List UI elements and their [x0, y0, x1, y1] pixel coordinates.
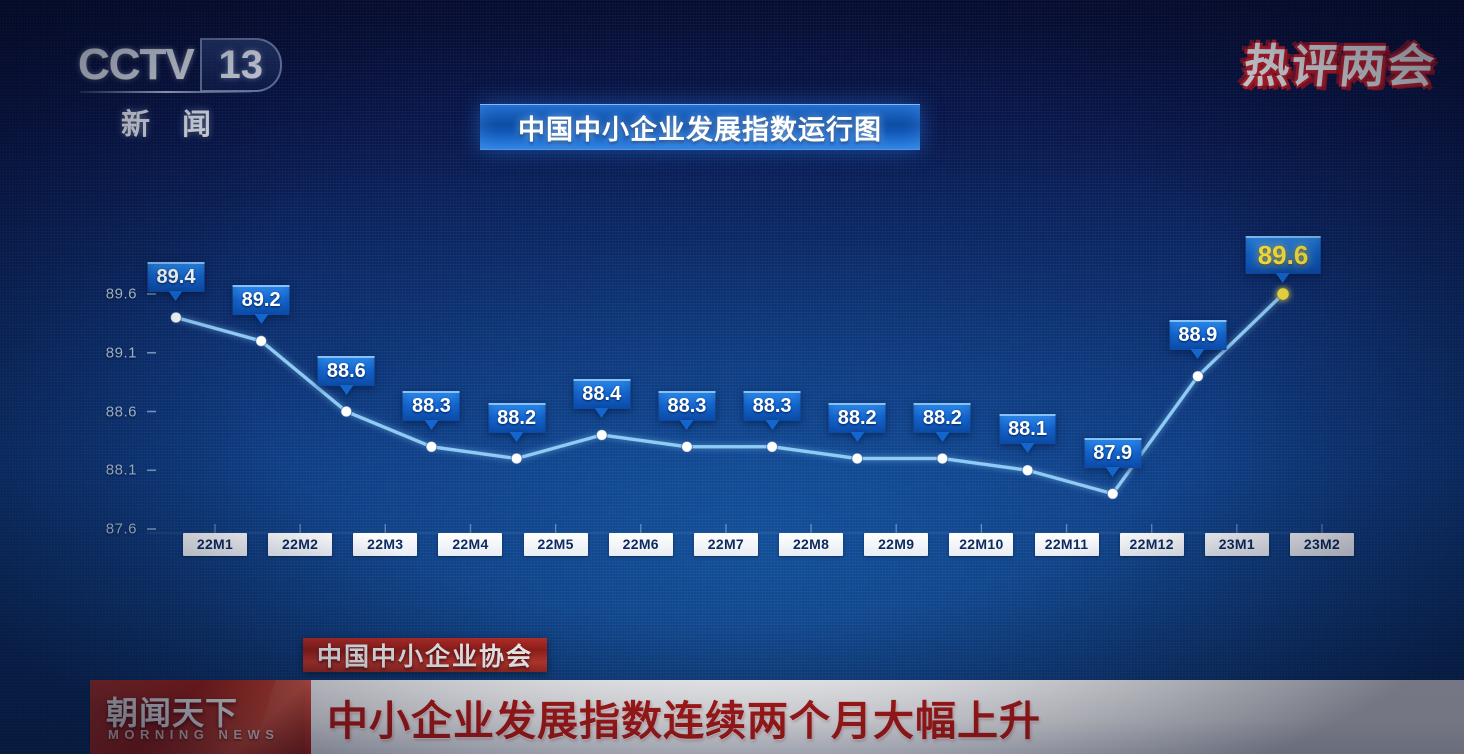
data-point-label: 89.4 [148, 262, 205, 292]
callout-pointer [1021, 443, 1035, 453]
program-name-en: MORNING NEWS [108, 727, 279, 742]
callout-pointer [935, 432, 949, 442]
y-axis-tick-label: 87.6 [91, 521, 137, 538]
headline-block: 中小企业发展指数连续两个月大幅上升 [305, 680, 1464, 754]
data-point [511, 453, 522, 464]
y-axis-tick-label: 89.6 [91, 286, 137, 303]
data-point-label: 89.6 [1246, 236, 1321, 274]
data-point-label: 89.2 [233, 285, 290, 315]
data-point [341, 406, 352, 417]
data-point-label: 88.2 [488, 403, 545, 433]
x-axis-tick-label: 22M1 [183, 533, 247, 556]
callout-pointer [339, 385, 353, 395]
data-point [682, 441, 693, 452]
data-point [937, 453, 948, 464]
data-point [767, 441, 778, 452]
x-axis-tick-label: 22M4 [438, 533, 502, 556]
x-axis-tick-label: 22M8 [779, 533, 843, 556]
data-point-label: 88.2 [914, 403, 971, 433]
x-axis-tick-label: 22M6 [609, 533, 673, 556]
data-point [596, 430, 607, 441]
data-point-label: 88.1 [999, 414, 1056, 444]
callout-pointer [1106, 467, 1120, 477]
x-axis-tick-label: 22M11 [1035, 533, 1099, 556]
y-axis-tick-label: 89.1 [91, 344, 137, 361]
data-point [171, 312, 182, 323]
callout-pointer [169, 291, 183, 301]
data-point-label: 88.3 [744, 391, 801, 421]
broadcast-screen: CCTV 13 新 闻 热评两会 中国中小企业发展指数运行图 87.688.18… [0, 0, 1464, 754]
x-axis-tick-label: 22M7 [694, 533, 758, 556]
data-point [1107, 488, 1118, 499]
data-point [256, 336, 267, 347]
line-chart: 87.688.188.689.189.6 22M122M222M322M422M… [0, 0, 1464, 600]
data-point-label: 88.9 [1169, 320, 1226, 350]
y-axis-tick-label: 88.6 [91, 403, 137, 420]
data-point [1277, 288, 1289, 300]
callout-pointer [765, 420, 779, 430]
x-axis-tick-label: 22M12 [1120, 533, 1184, 556]
x-axis-tick-label: 23M2 [1290, 533, 1354, 556]
program-logo-block: 朝闻天下 MORNING NEWS [90, 680, 305, 754]
source-attribution-text: 中国中小企业协会 [317, 637, 533, 673]
y-axis-tick-label: 88.1 [91, 462, 137, 479]
callout-pointer [510, 432, 524, 442]
callout-pointer [850, 432, 864, 442]
callout-pointer [1276, 273, 1290, 283]
callout-pointer [1191, 349, 1205, 359]
chart-canvas [0, 0, 1464, 600]
callout-pointer [680, 420, 694, 430]
x-axis-tick-label: 22M3 [353, 533, 417, 556]
data-point-label: 88.6 [318, 356, 375, 386]
x-axis-tick-label: 22M2 [268, 533, 332, 556]
lower-third-banner: 朝闻天下 MORNING NEWS 中小企业发展指数连续两个月大幅上升 [0, 680, 1464, 754]
data-point [1022, 465, 1033, 476]
x-axis-tick-label: 23M1 [1205, 533, 1269, 556]
callout-pointer [424, 420, 438, 430]
callout-pointer [595, 408, 609, 418]
data-point-label: 88.3 [658, 391, 715, 421]
x-axis-tick-label: 22M9 [864, 533, 928, 556]
source-attribution-bar: 中国中小企业协会 [303, 638, 547, 672]
data-point-label: 88.2 [829, 403, 886, 433]
x-axis-tick-label: 22M10 [949, 533, 1013, 556]
x-axis-tick-label: 22M5 [524, 533, 588, 556]
data-point [426, 441, 437, 452]
data-point-label: 88.3 [403, 391, 460, 421]
data-point [1192, 371, 1203, 382]
data-point [852, 453, 863, 464]
callout-pointer [254, 314, 268, 324]
data-point-label: 87.9 [1084, 438, 1141, 468]
headline-text: 中小企业发展指数连续两个月大幅上升 [327, 687, 1041, 747]
data-point-label: 88.4 [573, 379, 630, 409]
